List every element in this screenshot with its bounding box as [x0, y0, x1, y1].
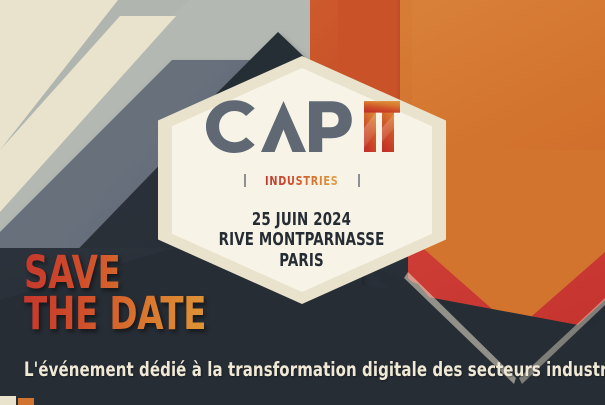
event-venue: RIVE MONTPARNASSE	[219, 230, 385, 250]
cap-it-wordmark	[204, 98, 400, 154]
logo-letter-p	[309, 101, 352, 152]
headline-save-the-date: SAVE THE DATE	[24, 252, 241, 335]
separator-pipe-right	[358, 174, 360, 187]
separator-pipe-left	[244, 174, 246, 187]
logo-letter-c	[206, 100, 255, 153]
save-the-date-poster: INDUSTRIES 25 JUIN 2024 RIVE MONTPARNASS…	[0, 0, 605, 405]
cap-it-logo-svg	[204, 98, 400, 154]
event-date: 25 JUIN 2024	[219, 210, 385, 230]
tagline: L'événement dédié à la transformation di…	[24, 358, 605, 381]
logo-letter-t-bar	[364, 101, 400, 112]
headline-line-2: THE DATE	[24, 293, 206, 334]
logo-subtitle-row: INDUSTRIES	[244, 173, 359, 188]
event-city: PARIS	[219, 251, 385, 271]
bg-accent-corner-cream	[0, 396, 16, 405]
bg-accent-corner-orange	[18, 398, 34, 405]
logo-subtitle: INDUSTRIES	[265, 173, 339, 188]
